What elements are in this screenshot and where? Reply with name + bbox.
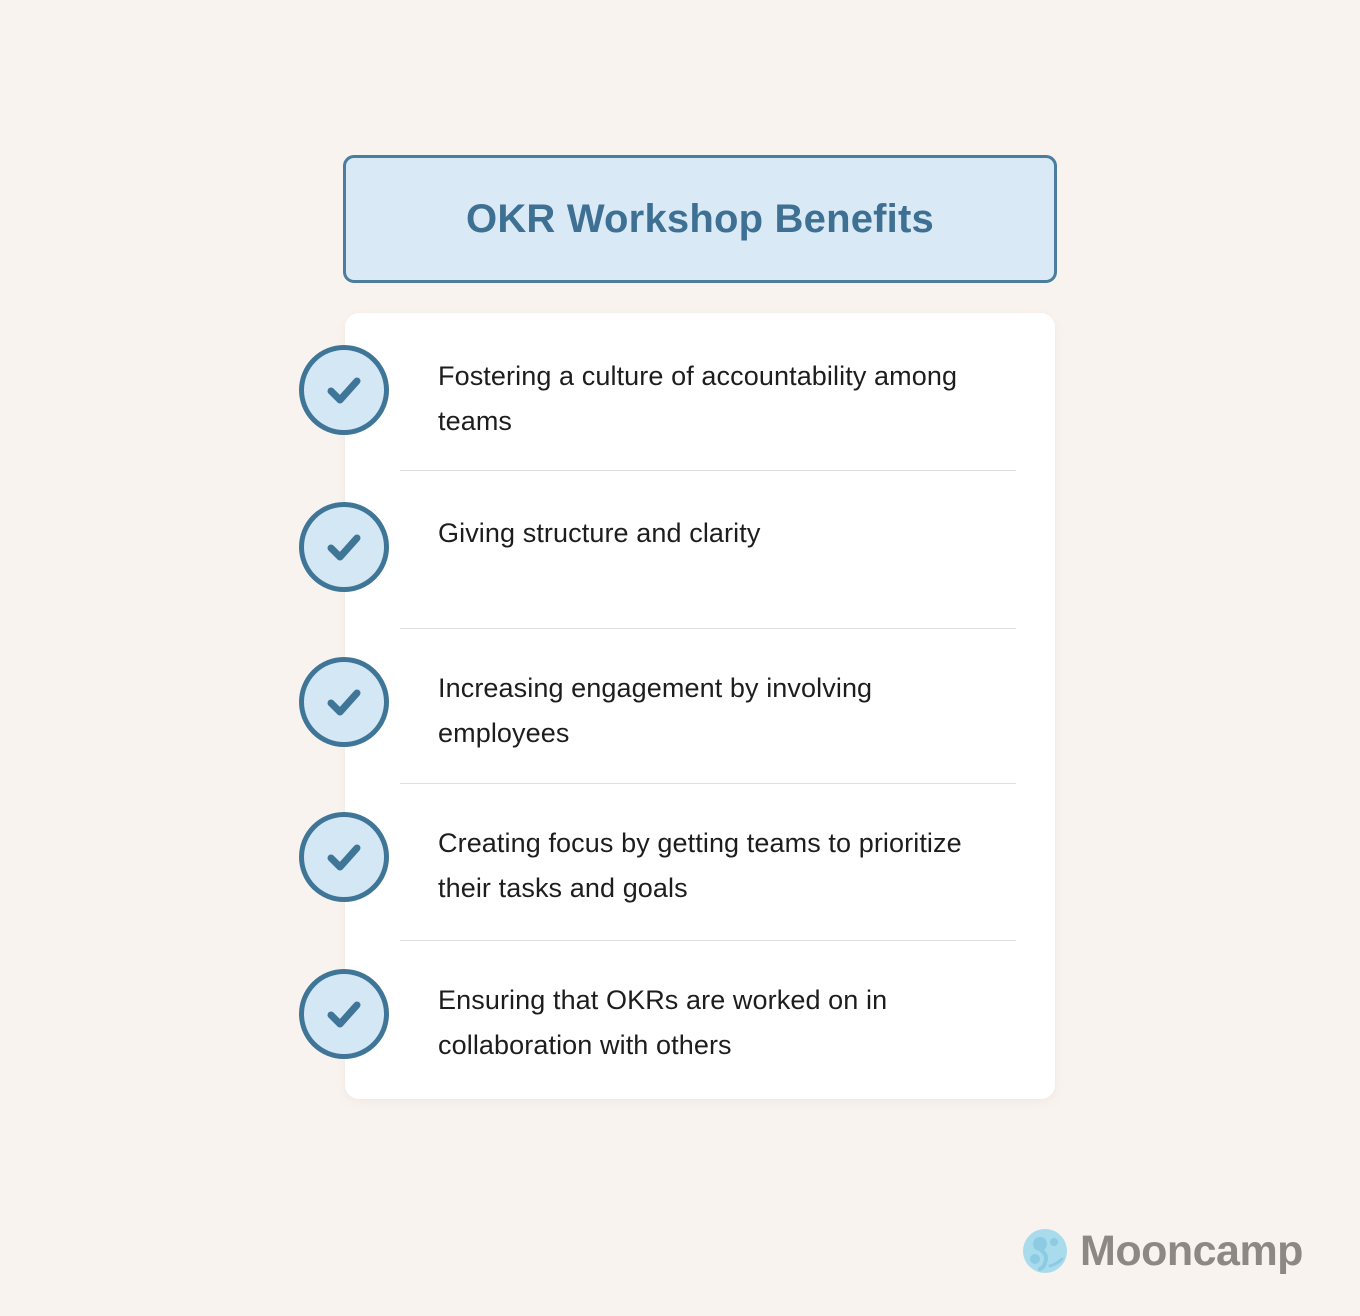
check-circle-icon bbox=[299, 502, 389, 592]
list-item-label: Increasing engagement by involving emplo… bbox=[438, 666, 968, 756]
list-divider bbox=[400, 470, 1016, 471]
brand-logo: Mooncamp bbox=[1022, 1228, 1303, 1274]
list-item-label: Fostering a culture of accountability am… bbox=[438, 354, 968, 444]
page-title: OKR Workshop Benefits bbox=[466, 197, 934, 241]
moon-icon bbox=[1022, 1228, 1068, 1274]
check-circle-icon bbox=[299, 345, 389, 435]
check-circle-icon bbox=[299, 812, 389, 902]
list-divider bbox=[400, 940, 1016, 941]
list-divider bbox=[400, 628, 1016, 629]
list-divider bbox=[400, 783, 1016, 784]
page-title-banner: OKR Workshop Benefits bbox=[343, 155, 1057, 283]
list-item-label: Ensuring that OKRs are worked on in coll… bbox=[438, 978, 968, 1068]
list-item-label: Giving structure and clarity bbox=[438, 511, 968, 556]
check-circle-icon bbox=[299, 657, 389, 747]
brand-name: Mooncamp bbox=[1080, 1230, 1303, 1273]
list-item-label: Creating focus by getting teams to prior… bbox=[438, 821, 968, 911]
check-circle-icon bbox=[299, 969, 389, 1059]
